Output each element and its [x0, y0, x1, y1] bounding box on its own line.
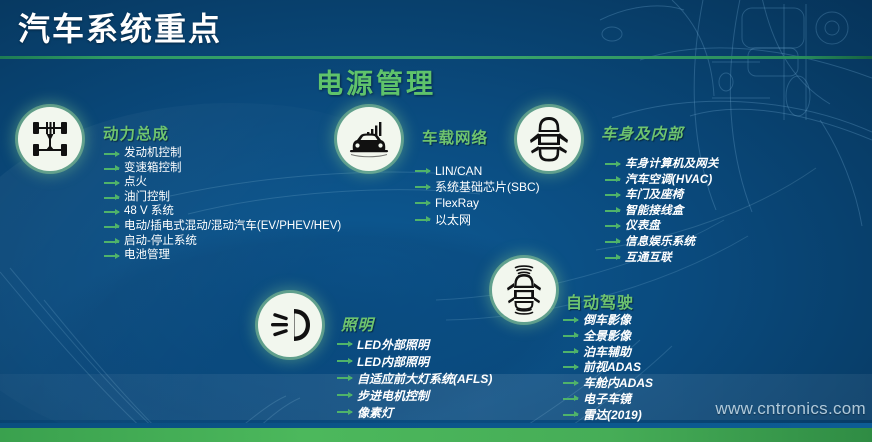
arrow-icon — [563, 335, 578, 337]
list-item: 全景影像 — [563, 329, 666, 344]
list-item: 车门及座椅 — [605, 188, 719, 203]
block-title-in-vehicle-network: 车载网络 — [422, 126, 488, 148]
list-item-label: 倒车影像 — [583, 313, 631, 327]
arrow-icon — [337, 394, 352, 396]
list-item: 电动/插电式混动/混动汽车(EV/PHEV/HEV) — [104, 220, 341, 234]
car-top-radar-icon — [492, 258, 556, 322]
list-item: LED内部照明 — [337, 354, 492, 370]
list-item: 步进电机控制 — [337, 388, 492, 404]
arrow-icon — [415, 219, 430, 221]
list-item-label: 电动/插电式混动/混动汽车(EV/PHEV/HEV) — [124, 220, 341, 232]
slide-root: 汽车系统重点 电源管理 — [0, 0, 872, 442]
list-item: 变速箱控制 — [104, 162, 341, 176]
list-item: 仪表盘 — [605, 219, 719, 234]
list-item-label: 信息娱乐系统 — [625, 236, 695, 248]
list-item: 像素灯 — [337, 405, 492, 421]
list-item: 车身计算机及网关 — [605, 157, 719, 172]
car-front-signal-icon — [337, 107, 401, 171]
list-item-label: 仪表盘 — [625, 220, 660, 232]
list-item-label: 电池管理 — [124, 249, 170, 261]
headlamp-icon — [258, 293, 322, 357]
list-item-label: 电子车镜 — [583, 392, 631, 406]
list-item-label: 步进电机控制 — [357, 389, 429, 403]
list-item-label: FlexRay — [435, 196, 479, 210]
arrow-icon — [563, 382, 578, 384]
arrow-icon — [104, 255, 119, 257]
list-item: 电子车镜 — [563, 392, 666, 407]
list-item-label: 车身计算机及网关 — [625, 158, 719, 170]
block-title-lighting: 照明 — [341, 313, 374, 335]
arrow-icon — [104, 241, 119, 243]
arrow-icon — [104, 153, 119, 155]
block-title-autonomous-driving: 自动驾驶 — [566, 289, 634, 313]
list-item-label: 48 V 系统 — [124, 205, 174, 217]
list-item-label: 变速箱控制 — [124, 162, 182, 174]
page-title: 汽车系统重点 — [18, 4, 222, 50]
list-item-label: 互通互联 — [625, 252, 672, 264]
list-item-label: 雷达(2019) — [583, 408, 642, 422]
watermark-text: www.cntronics.com — [715, 399, 866, 419]
arrow-icon — [563, 366, 578, 368]
arrow-icon — [605, 257, 620, 259]
list-item: FlexRay — [415, 196, 540, 211]
list-item-label: 以太网 — [435, 213, 471, 227]
list-item-label: 全景影像 — [583, 329, 631, 343]
list-item: 自适应前大灯系统(AFLS) — [337, 371, 492, 387]
list-item-label: 车门及座椅 — [625, 189, 684, 201]
chassis-drivetrain-icon — [18, 107, 82, 171]
arrow-icon — [104, 168, 119, 170]
list-item: 信息娱乐系统 — [605, 235, 719, 250]
list-item: 点火 — [104, 176, 341, 190]
list-item: 前视ADAS — [563, 360, 666, 375]
arrow-icon — [104, 182, 119, 184]
list-body-and-interior: 车身计算机及网关 汽车空调(HVAC) 车门及座椅 智能接线盒 仪表盘 信息娱乐… — [605, 157, 719, 266]
bottom-accent-bar — [0, 428, 872, 442]
arrow-icon — [415, 202, 430, 204]
arrow-icon — [337, 343, 352, 345]
arrow-icon — [415, 186, 430, 188]
list-item-label: 前视ADAS — [583, 360, 641, 374]
arrow-icon — [337, 411, 352, 413]
arrow-icon — [605, 179, 620, 181]
list-item: 车舱内ADAS — [563, 376, 666, 391]
header-divider — [0, 56, 872, 59]
list-item-label: 油门控制 — [124, 191, 170, 203]
list-item-label: LED外部照明 — [357, 338, 429, 352]
list-item: 倒车影像 — [563, 313, 666, 328]
arrow-icon — [104, 197, 119, 199]
arrow-icon — [605, 210, 620, 212]
list-item-label: LED内部照明 — [357, 355, 429, 369]
list-item-label: 汽车空调(HVAC) — [625, 174, 712, 186]
list-item-label: LIN/CAN — [435, 164, 482, 178]
arrow-icon — [563, 414, 578, 416]
list-item-label: 车舱内ADAS — [583, 376, 653, 390]
arrow-icon — [415, 170, 430, 172]
list-item: 以太网 — [415, 213, 540, 228]
arrow-icon — [605, 194, 620, 196]
list-in-vehicle-network: LIN/CAN 系统基础芯片(SBC) FlexRay 以太网 — [415, 164, 540, 229]
block-title-powertrain: 动力总成 — [103, 122, 169, 144]
list-item: 油门控制 — [104, 191, 341, 205]
list-item: 发动机控制 — [104, 147, 341, 161]
list-item: 48 V 系统 — [104, 205, 341, 219]
list-item: 雷达(2019) — [563, 408, 666, 423]
list-item-label: 系统基础芯片(SBC) — [435, 180, 540, 194]
list-item-label: 启动-停止系统 — [124, 235, 197, 247]
list-item-label: 自适应前大灯系统(AFLS) — [357, 372, 492, 386]
list-item: LED外部照明 — [337, 337, 492, 353]
arrow-icon — [605, 225, 620, 227]
list-item: 启动-停止系统 — [104, 235, 341, 249]
arrow-icon — [337, 377, 352, 379]
arrow-icon — [104, 226, 119, 228]
list-item-label: 发动机控制 — [124, 147, 182, 159]
list-item-label: 点火 — [124, 176, 147, 188]
car-top-doors-icon — [517, 107, 581, 171]
list-item: 互通互联 — [605, 251, 719, 266]
list-item-label: 像素灯 — [357, 406, 393, 420]
arrow-icon — [563, 319, 578, 321]
list-item: LIN/CAN — [415, 164, 540, 179]
list-item: 泊车辅助 — [563, 345, 666, 360]
list-item: 智能接线盒 — [605, 204, 719, 219]
arrow-icon — [104, 211, 119, 213]
block-title-body-and-interior: 车身及内部 — [601, 122, 684, 144]
list-powertrain: 发动机控制 变速箱控制 点火 油门控制 48 V 系统 电动/插电式混动/混动汽… — [104, 147, 341, 264]
list-item-label: 泊车辅助 — [583, 345, 631, 359]
list-item: 汽车空调(HVAC) — [605, 173, 719, 188]
arrow-icon — [563, 351, 578, 353]
arrow-icon — [337, 360, 352, 362]
arrow-icon — [605, 241, 620, 243]
arrow-icon — [563, 398, 578, 400]
center-heading: 电源管理 — [316, 62, 436, 101]
list-item-label: 智能接线盒 — [625, 205, 684, 217]
list-item: 电池管理 — [104, 249, 341, 263]
arrow-icon — [605, 163, 620, 165]
list-autonomous-driving: 倒车影像 全景影像 泊车辅助 前视ADAS 车舱内ADAS 电子车镜 雷达(20… — [563, 313, 666, 439]
list-item: 系统基础芯片(SBC) — [415, 180, 540, 195]
